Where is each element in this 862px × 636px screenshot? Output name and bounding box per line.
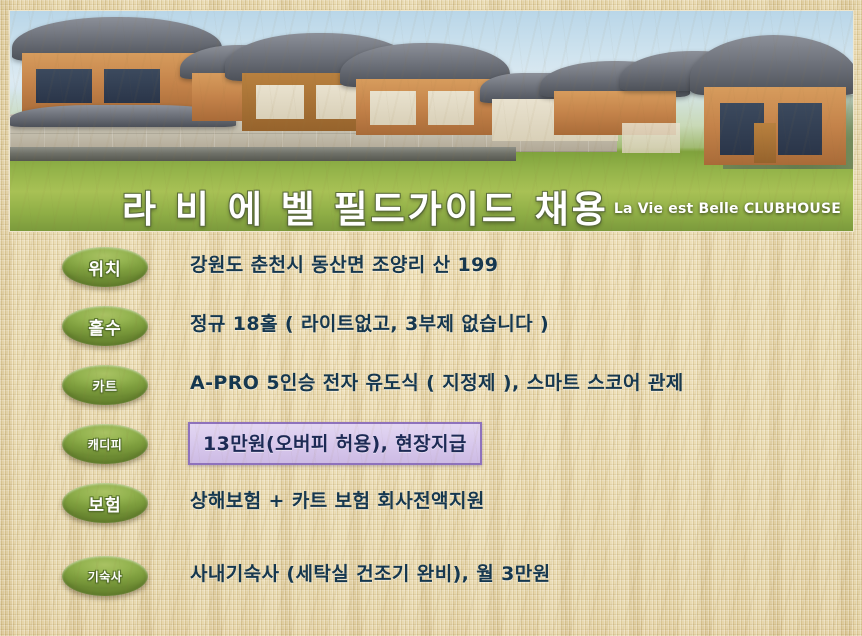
entry-door [754, 123, 776, 163]
info-row: 홀수 정규 18홀 ( 라이트없고, 3부제 없습니다 ) [0, 302, 862, 361]
row-spacer [0, 538, 862, 552]
window-center-c [370, 91, 416, 125]
stairway [622, 123, 680, 153]
info-list: 위치 강원도 춘천시 동산면 조양리 산 199 홀수 정규 18홀 ( 라이트… [0, 243, 862, 611]
info-row: 카트 A-PRO 5인승 전자 유도식 ( 지정제 ), 스마트 스코어 관제 [0, 361, 862, 420]
info-row: 기숙사 사내기숙사 (세탁실 건조기 완비), 월 3만원 [0, 552, 862, 611]
badge-holes: 홀수 [62, 306, 148, 346]
info-row: 위치 강원도 춘천시 동산면 조양리 산 199 [0, 243, 862, 302]
badge-caddie-fee: 캐디피 [62, 424, 148, 464]
window-center-b [256, 85, 304, 119]
window-right-main-2 [778, 103, 822, 155]
badge-label: 보험 [88, 491, 121, 516]
window-center-c-2 [428, 91, 474, 125]
lower-wall [10, 147, 516, 160]
roof-right-main [690, 35, 854, 95]
badge-insurance: 보험 [62, 483, 148, 523]
window-left [36, 69, 92, 103]
info-value-location: 강원도 춘천시 동산면 조양리 산 199 [190, 250, 498, 277]
window-left-2 [104, 69, 160, 103]
info-value-caddie-fee: 13만원(오버피 허용), 현장지급 [188, 422, 482, 465]
badge-location: 위치 [62, 247, 148, 287]
info-value-cart: A-PRO 5인승 전자 유도식 ( 지정제 ), 스마트 스코어 관제 [190, 368, 684, 395]
badge-dormitory: 기숙사 [62, 556, 148, 596]
info-row: 보험 상해보험 + 카트 보험 회사전액지원 [0, 479, 862, 538]
badge-label: 위치 [88, 255, 121, 280]
badge-label: 캐디피 [88, 436, 123, 453]
info-value-insurance: 상해보험 + 카트 보험 회사전액지원 [190, 486, 485, 513]
info-value-dormitory: 사내기숙사 (세탁실 건조기 완비), 월 3만원 [190, 559, 551, 586]
brand-subtitle: La Vie est Belle CLUBHOUSE [614, 201, 841, 217]
badge-label: 홀수 [88, 314, 121, 339]
info-row: 캐디피 13만원(오버피 허용), 현장지급 [0, 420, 862, 479]
badge-label: 기숙사 [88, 568, 123, 585]
info-value-holes: 정규 18홀 ( 라이트없고, 3부제 없습니다 ) [190, 309, 549, 336]
badge-label: 카트 [93, 376, 118, 395]
recruitment-poster: 라 비 에 벨 필드가이드 채용 La Vie est Belle CLUBHO… [0, 0, 862, 636]
header-banner: 라 비 에 벨 필드가이드 채용 La Vie est Belle CLUBHO… [9, 10, 854, 232]
badge-cart: 카트 [62, 365, 148, 405]
